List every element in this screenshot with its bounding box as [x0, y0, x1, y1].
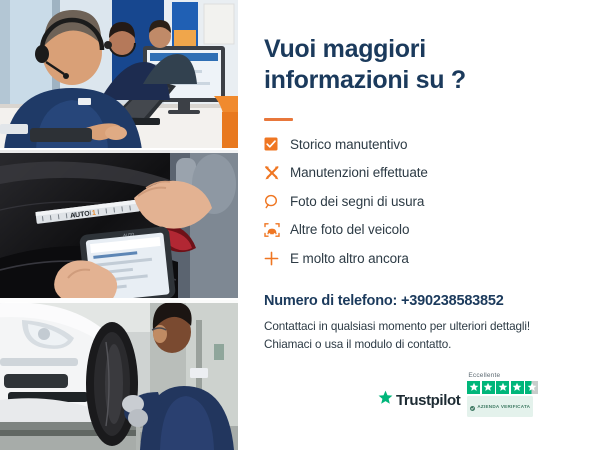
phone-line: Numero di telefono: +390238583852: [264, 293, 504, 309]
list-item: Manutenzioni effettuate: [264, 159, 564, 188]
magnifier-icon: [264, 194, 290, 209]
mechanic-wheel-photo: [0, 300, 238, 450]
checkbox-checked-icon: [264, 137, 290, 151]
verified-badge: AZIENDA VERIFICATA: [467, 396, 533, 417]
verified-text: AZIENDA VERIFICATA: [477, 404, 530, 409]
check-circle-icon: [470, 398, 475, 416]
star-filled: [511, 381, 524, 394]
star-filled: [467, 381, 480, 394]
car-frame-icon: [264, 222, 290, 238]
trustpilot-star-icon: [378, 390, 393, 410]
call-center-agents-photo: [0, 0, 238, 150]
title-divider: [264, 118, 293, 121]
trustpilot-logo: Trustpilot: [378, 390, 460, 417]
list-item: E molto altro ancora: [264, 244, 564, 273]
list-item: Storico manutentivo: [264, 130, 564, 159]
list-item-label: Altre foto del veicolo: [290, 222, 409, 237]
trustpilot-rating: Eccellente: [467, 372, 538, 417]
photo-column: AUTO 1 AUTO: [0, 0, 238, 450]
trustpilot-name: Trustpilot: [396, 392, 460, 409]
star-filled: [496, 381, 509, 394]
wrench-tools-icon: [264, 165, 290, 181]
page-title-line1: Vuoi maggiori: [264, 34, 489, 65]
phone-label: Numero di telefono:: [264, 293, 397, 309]
contact-subtext-line1: Contattaci in qualsiasi momento per ulte…: [264, 318, 564, 336]
list-item-label: Manutenzioni effettuate: [290, 165, 428, 180]
feature-list: Storico manutentivo Manutenzioni effettu…: [264, 130, 564, 273]
page-title: Vuoi maggiori informazioni su ?: [264, 34, 489, 96]
list-item-label: Foto dei segni di usura: [290, 194, 424, 209]
list-item: Foto dei segni di usura: [264, 187, 564, 216]
plus-icon: [264, 251, 290, 266]
page-title-line2: informazioni su ?: [264, 65, 489, 96]
promo-banner: AUTO 1 AUTO: [0, 0, 600, 450]
star-filled: [482, 381, 495, 394]
vehicle-inspection-photo: AUTO 1 AUTO: [0, 150, 238, 300]
list-item: Altre foto del veicolo: [264, 216, 564, 245]
list-item-label: E molto altro ancora: [290, 251, 409, 266]
contact-subtext: Contattaci in qualsiasi momento per ulte…: [264, 318, 564, 353]
rating-label: Eccellente: [468, 372, 500, 379]
list-item-label: Storico manutentivo: [290, 137, 407, 152]
star-rating: [467, 381, 538, 394]
contact-subtext-line2: Chiamaci o usa il modulo di contatto.: [264, 336, 564, 354]
star-half: [525, 381, 538, 394]
trustpilot-widget[interactable]: Trustpilot Eccellente: [378, 372, 538, 417]
phone-number[interactable]: +390238583852: [401, 293, 504, 309]
info-panel: Vuoi maggiori informazioni su ?: [238, 0, 600, 450]
